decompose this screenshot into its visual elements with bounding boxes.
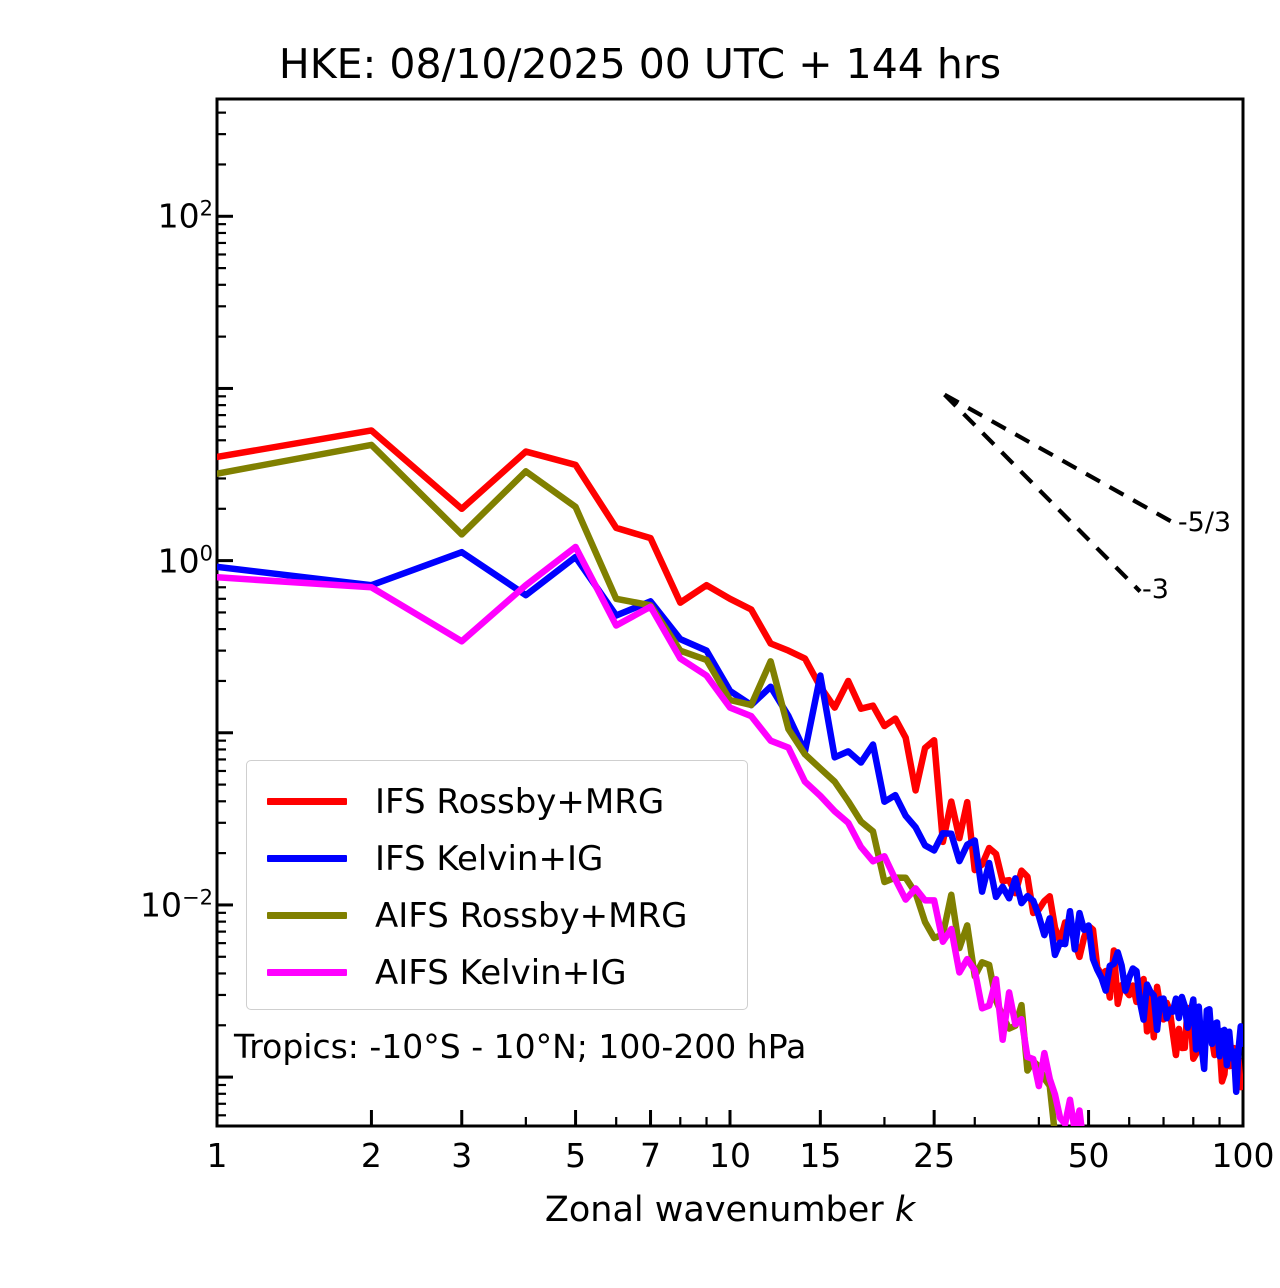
legend-swatch-ifs-kelvin-ig [267, 855, 347, 862]
legend-label: AIFS Rossby+MRG [375, 899, 687, 933]
region-annotation: Tropics: -10°S - 10°N; 100-200 hPa [234, 1027, 806, 1066]
x-tick-label: 1 [207, 1136, 228, 1175]
reference-slope-label: -3 [1142, 574, 1169, 605]
x-tick-label: 25 [913, 1136, 955, 1175]
x-tick-label: 15 [799, 1136, 841, 1175]
x-tick-label: 3 [451, 1136, 472, 1175]
legend: IFS Rossby+MRG IFS Kelvin+IG AIFS Rossby… [246, 760, 748, 1010]
x-axis-ticks [217, 1110, 1243, 1126]
y-tick-label: 102 [158, 197, 213, 236]
chart-root: HKE: 08/10/2025 00 UTC + 144 hrs Horizon… [0, 0, 1280, 1288]
legend-item[interactable]: AIFS Kelvin+IG [247, 944, 747, 1001]
legend-swatch-aifs-rossby-mrg [267, 912, 347, 919]
legend-swatch-ifs-rossby-mrg [267, 798, 347, 805]
y-tick-label: 100 [158, 541, 213, 580]
reference-slope-label: -5/3 [1178, 507, 1231, 538]
legend-item[interactable]: IFS Rossby+MRG [247, 773, 747, 830]
legend-label: AIFS Kelvin+IG [375, 956, 627, 990]
legend-item[interactable]: AIFS Rossby+MRG [247, 887, 747, 944]
x-tick-label: 5 [565, 1136, 586, 1175]
x-tick-label: 10 [709, 1136, 751, 1175]
x-tick-label: 100 [1212, 1136, 1275, 1175]
legend-label: IFS Kelvin+IG [375, 842, 603, 876]
legend-swatch-aifs-kelvin-ig [267, 969, 347, 976]
legend-label: IFS Rossby+MRG [375, 785, 664, 819]
x-tick-label: 2 [361, 1136, 382, 1175]
x-tick-label: 7 [640, 1136, 661, 1175]
plot-canvas [0, 0, 1280, 1288]
x-tick-label: 50 [1068, 1136, 1110, 1175]
legend-item[interactable]: IFS Kelvin+IG [247, 830, 747, 887]
y-tick-label: 10−2 [140, 885, 213, 924]
